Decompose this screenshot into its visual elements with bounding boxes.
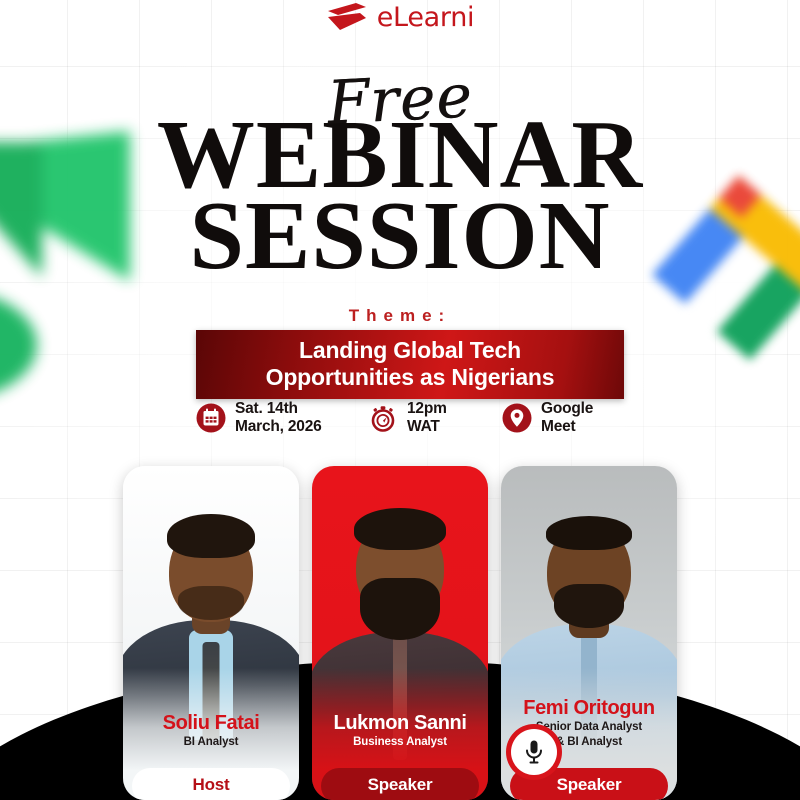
headline-block: Free WEBINAR SESSION [0, 70, 800, 281]
event-platform-item: Google Meet [502, 400, 608, 435]
theme-line-1: Landing Global Tech [206, 337, 614, 364]
headline-line-2: SESSION [0, 192, 800, 280]
event-time-line-2: WAT [407, 418, 447, 436]
speaker-name: Femi Oritogun [507, 698, 671, 719]
event-date-line-1: Sat. 14th [235, 400, 298, 417]
calendar-icon [196, 403, 226, 433]
speaker-role-line-1: BI Analyst [129, 736, 293, 750]
event-date-text: Sat. 14th March, 2026 [235, 400, 322, 435]
stacked-chevron-logo-icon [326, 2, 368, 32]
event-platform-line-1: Google [541, 400, 593, 417]
event-platform-line-2: Meet [541, 418, 593, 436]
stopwatch-icon [368, 403, 398, 433]
theme-label: Theme: [0, 306, 800, 326]
speaker-cards: Soliu Fatai BI Analyst Host Lukmon Sanni… [0, 466, 800, 800]
brand-logo: eLearni [0, 0, 800, 34]
event-platform-text: Google Meet [541, 400, 593, 435]
theme-line-2: Opportunities as Nigerians [206, 364, 614, 391]
speaker-role-line-1: Business Analyst [318, 736, 482, 750]
speaker-caption: Soliu Fatai BI Analyst [123, 713, 299, 750]
microphone-icon [506, 724, 562, 780]
event-date-line-2: March, 2026 [235, 418, 322, 436]
event-time-line-1: 12pm [407, 400, 447, 417]
speaker-caption: Lukmon Sanni Business Analyst [312, 713, 488, 750]
speaker-card-lukmon-sanni[interactable]: Lukmon Sanni Business Analyst Speaker [312, 466, 488, 800]
speaker-role-badge[interactable]: Host [132, 768, 290, 800]
location-pin-icon [502, 403, 532, 433]
theme-banner: Landing Global Tech Opportunities as Nig… [196, 330, 624, 399]
webinar-flyer: eLearni Free WEBINAR SESSION Theme: Land… [0, 0, 800, 800]
speaker-role-badge[interactable]: Speaker [321, 768, 479, 800]
event-date-item: Sat. 14th March, 2026 [196, 400, 368, 435]
event-details-row: Sat. 14th March, 2026 12pm WAT [196, 400, 608, 435]
speaker-name: Lukmon Sanni [318, 713, 482, 734]
event-time-text: 12pm WAT [407, 400, 447, 435]
brand-name: eLearni [377, 4, 474, 31]
speaker-card-host[interactable]: Soliu Fatai BI Analyst Host [123, 466, 299, 800]
event-time-item: 12pm WAT [368, 400, 502, 435]
speaker-name: Soliu Fatai [129, 713, 293, 734]
